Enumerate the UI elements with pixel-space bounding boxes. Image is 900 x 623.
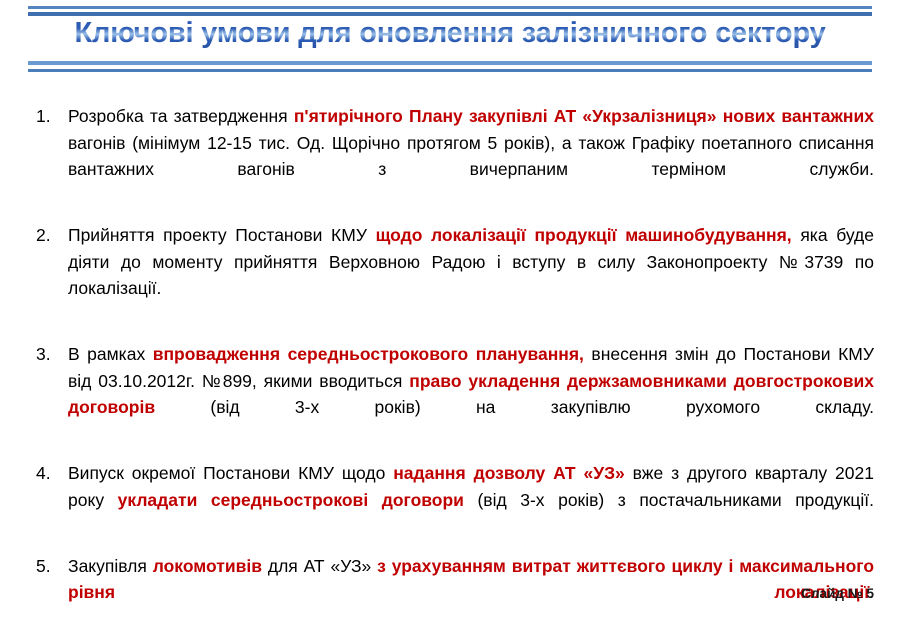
- list-item: 1.Розробка та затвердження п'ятирічного …: [34, 103, 874, 209]
- list-item-number: 1.: [34, 103, 68, 130]
- list-item-text: Випуск окремої Постанови КМУ щодо наданн…: [68, 460, 874, 540]
- list-item: 4.Випуск окремої Постанови КМУ щодо нада…: [34, 460, 874, 540]
- slide-canvas: Ключові умови для оновлення залізничного…: [0, 0, 900, 623]
- plain-run: вагонів (мінімум 12-15 тис. Од. Щорічно …: [68, 133, 874, 180]
- bottom-rule-lower: [28, 69, 872, 72]
- list-item-number: 2.: [34, 222, 68, 249]
- list-item: 3.В рамках впровадження середньостроково…: [34, 341, 874, 447]
- plain-run: Прийняття проекту Постанови КМУ: [68, 225, 376, 245]
- list-item-number: 5.: [34, 553, 68, 580]
- highlighted-run: локомотивів: [153, 556, 262, 576]
- bottom-rule-upper: [28, 61, 872, 65]
- list-item-number: 3.: [34, 341, 68, 368]
- list-item-text: Закупівля локомотивів для АТ «УЗ» з урах…: [68, 553, 874, 623]
- list-item-text: Прийняття проекту Постанови КМУ щодо лок…: [68, 222, 874, 328]
- plain-run: В рамках: [68, 344, 153, 364]
- highlighted-run: укладати середньострокові договори: [118, 490, 464, 510]
- numbered-list: 1.Розробка та затвердження п'ятирічного …: [34, 103, 874, 623]
- highlighted-run: впровадження середньострокового плануван…: [153, 344, 584, 364]
- plain-run: Закупівля: [68, 556, 153, 576]
- plain-run: (від 3-х років) на закупівлю рухомого ск…: [155, 397, 874, 417]
- plain-run: Випуск окремої Постанови КМУ щодо: [68, 463, 393, 483]
- highlighted-run: п'ятирічного Плану закупівлі АТ «Укрзалі…: [294, 106, 874, 126]
- list-item: 5.Закупівля локомотивів для АТ «УЗ» з ур…: [34, 553, 874, 623]
- top-rule-lower: [28, 12, 872, 16]
- slide-number-footer: Слайд № 5: [801, 586, 874, 601]
- plain-run: Розробка та затвердження: [68, 106, 294, 126]
- slide-title: Ключові умови для оновлення залізничного…: [0, 17, 900, 50]
- list-item: 2.Прийняття проекту Постанови КМУ щодо л…: [34, 222, 874, 328]
- title-banner: Ключові умови для оновлення залізничного…: [0, 0, 900, 78]
- list-item-text: В рамках впровадження середньострокового…: [68, 341, 874, 447]
- list-item-text: Розробка та затвердження п'ятирічного Пл…: [68, 103, 874, 209]
- top-rule-upper: [28, 6, 872, 9]
- plain-run: (від 3-х років) з постачальниками продук…: [464, 490, 874, 510]
- highlighted-run: надання дозволу АТ «УЗ»: [393, 463, 625, 483]
- plain-run: для АТ «УЗ»: [262, 556, 377, 576]
- highlighted-run: щодо локалізації продукції машинобудуван…: [376, 225, 792, 245]
- list-item-number: 4.: [34, 460, 68, 487]
